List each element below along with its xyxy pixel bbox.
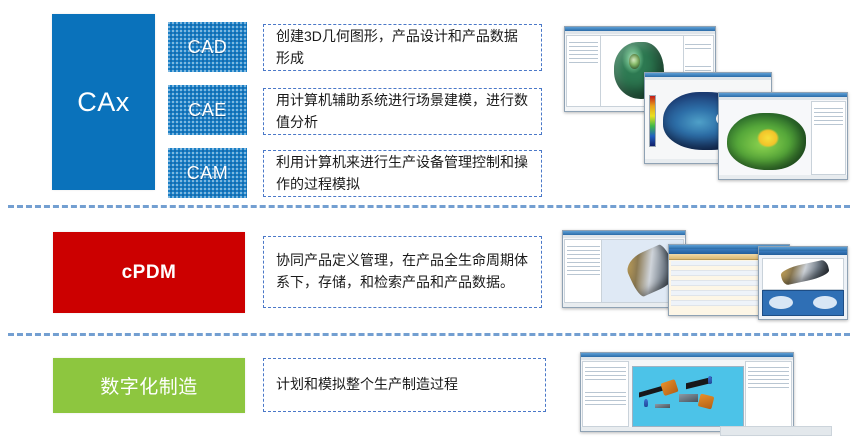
status-bar [719,175,847,179]
description-box-digital-manufacturing: 计划和模拟整个生产制造过程 [263,358,546,412]
viewer-preview [762,258,844,290]
robot-arm [698,394,715,410]
operator-figure [708,376,712,384]
window-body [719,100,847,179]
description-box-cpdm: 协同产品定义管理，在产品全生命周期体系下，存储，和检索产品和产品数据。 [263,236,542,308]
cam-result-model [727,113,806,170]
robot-arm [660,379,679,396]
description-box-cae: 用计算机辅助系统进行场景建模，进行数值分析 [263,88,542,135]
comparison-panel [762,290,844,316]
section-separator-1 [8,205,850,208]
assembly-model [779,260,830,287]
app-window-manufacturing-sim [580,352,794,432]
timeline-bar[interactable] [720,426,832,436]
app-window-cam [718,92,848,180]
sub-block-cad[interactable]: CAD [168,22,247,72]
description-text-digital-manufacturing: 计划和模拟整个生产制造过程 [276,374,458,396]
category-block-digital-manufacturing[interactable]: 数字化制造 [53,358,245,413]
window-body [563,238,685,307]
product-structure-tree [564,239,603,303]
app-window-pdm-viewer [758,246,848,320]
section-separator-2 [8,333,850,336]
window-body [759,255,847,319]
window-body [581,360,793,431]
compare-thumb-left [769,296,793,309]
description-text-cpdm: 协同产品定义管理，在产品全生命周期体系下，存储，和检索产品和产品数据。 [276,250,531,293]
operator-figure [644,399,648,407]
compare-thumb-right [813,296,837,309]
machine-cell [679,394,698,402]
sub-block-cam[interactable]: CAM [168,148,247,198]
description-text-cae: 用计算机辅助系统进行场景建模，进行数值分析 [276,90,531,133]
conveyor-panel [639,386,663,398]
description-box-cad: 创建3D几何图形，产品设计和产品数据形成 [263,24,542,71]
resource-tree-pane [745,361,792,427]
description-text-cad: 创建3D几何图形，产品设计和产品数据形成 [276,26,531,69]
process-tree-pane [582,361,629,427]
description-box-cam: 利用计算机来进行生产设备管理控制和操作的过程模拟 [263,150,542,197]
model-tree-pane [566,35,601,107]
screenshot-panel-cpdm [558,228,852,324]
color-legend-bar [649,95,656,147]
category-block-cpdm[interactable]: cPDM [53,232,245,313]
diagram-canvas: CAx CAD CAE CAM 创建3D几何图形，产品设计和产品数据形成 用计算… [0,0,858,447]
operation-tree-pane [811,101,846,175]
machine-cell [655,404,670,409]
screenshot-panel-cax [558,6,852,192]
screenshot-panel-digital-manufacturing [570,348,842,440]
status-bar [563,303,685,307]
viewport-3d-simulation [632,366,744,428]
description-text-cam: 利用计算机来进行生产设备管理控制和操作的过程模拟 [276,152,531,195]
sub-block-cae[interactable]: CAE [168,85,247,135]
category-block-cax[interactable]: CAx [52,14,155,190]
